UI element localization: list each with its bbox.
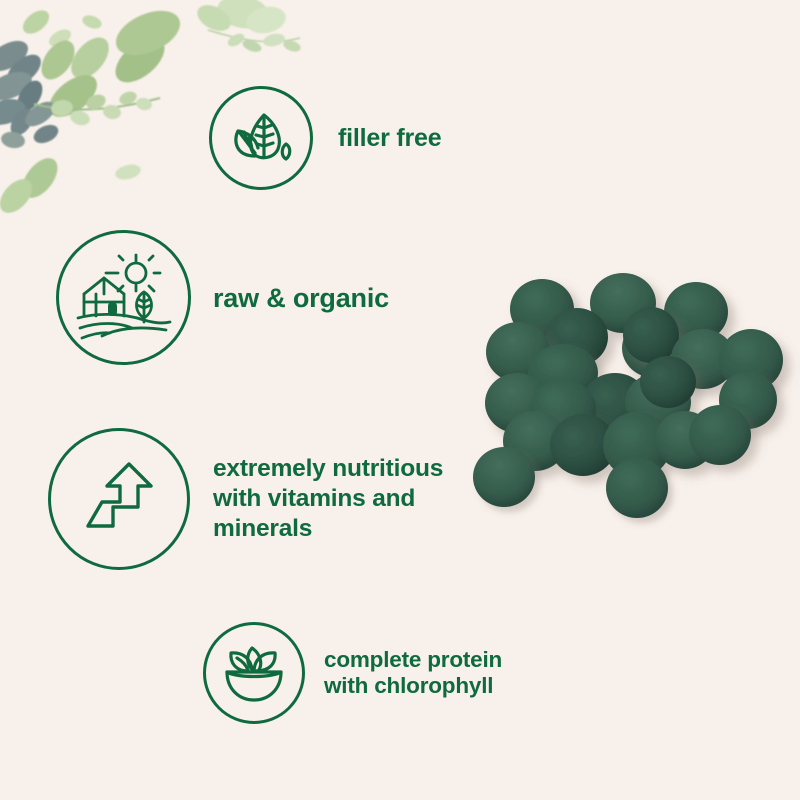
benefit-badge-filler-free xyxy=(209,86,313,190)
benefit-badge-raw-organic xyxy=(56,230,191,365)
leaves-icon xyxy=(224,101,298,175)
benefit-badge-extremely-nutritious xyxy=(48,428,190,570)
spirulina-tablets-pile xyxy=(455,255,800,555)
benefit-row-filler-free: filler free xyxy=(209,86,441,190)
tablet xyxy=(640,356,696,408)
tablet xyxy=(689,405,751,465)
benefit-badge-complete-protein xyxy=(203,622,305,724)
benefit-label-raw-organic: raw & organic xyxy=(213,282,389,314)
benefit-row-extremely-nutritious: extremely nutritious with vitamins and m… xyxy=(48,428,443,570)
benefit-label-complete-protein: complete protein with chlorophyll xyxy=(324,647,502,700)
bowl-leaves-icon xyxy=(218,637,290,709)
benefit-label-filler-free: filler free xyxy=(338,123,441,153)
benefit-row-raw-organic: raw & organic xyxy=(56,230,389,365)
tablet xyxy=(623,307,679,363)
promo-panel: filler free xyxy=(0,0,800,800)
tablet xyxy=(473,447,535,507)
zigzag-arrow-up-icon xyxy=(76,456,162,542)
benefit-row-complete-protein: complete protein with chlorophyll xyxy=(203,622,502,724)
benefit-label-extremely-nutritious: extremely nutritious with vitamins and m… xyxy=(213,454,443,544)
farm-sun-icon xyxy=(74,250,174,346)
tablet xyxy=(606,458,668,518)
